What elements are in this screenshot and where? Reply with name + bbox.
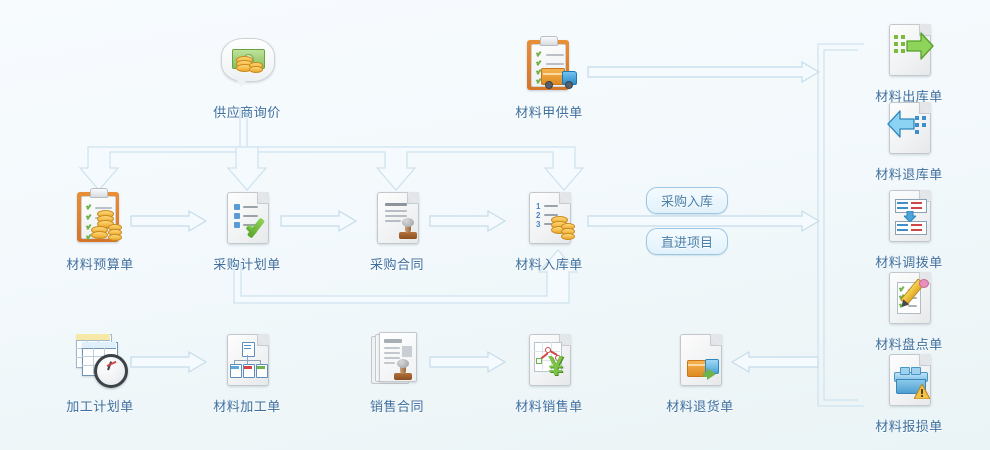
node-stock-out[interactable]: 材料出库单 bbox=[849, 22, 969, 105]
node-purchase-contract[interactable]: 采购合同 bbox=[337, 190, 457, 273]
document-coins-icon: 123 bbox=[521, 190, 577, 250]
document-chart-yen-icon: ¥ bbox=[521, 332, 577, 392]
node-material-inbound[interactable]: 123 材料入库单 bbox=[489, 190, 609, 273]
node-supplier-quote[interactable]: 供应商询价 bbox=[187, 38, 307, 121]
flowchart-canvas: 采购入库 直进项目 供应商询价 bbox=[0, 0, 990, 450]
pill-purchase-inbound[interactable]: 采购入库 bbox=[646, 187, 728, 214]
pill-direct-project[interactable]: 直进项目 bbox=[646, 228, 728, 255]
pill-purchase-inbound-label: 采购入库 bbox=[661, 194, 713, 209]
node-sales-contract-label: 销售合同 bbox=[337, 396, 457, 415]
contract-stack-stamp-icon bbox=[369, 332, 425, 392]
contract-stamp-icon bbox=[369, 190, 425, 250]
node-material-supply-label: 材料甲供单 bbox=[489, 102, 609, 121]
node-stock-damage-label: 材料报损单 bbox=[849, 416, 969, 435]
node-material-inbound-label: 材料入库单 bbox=[489, 254, 609, 273]
node-stock-count-label: 材料盘点单 bbox=[849, 334, 969, 353]
node-material-sales-label: 材料销售单 bbox=[489, 396, 609, 415]
node-purchase-contract-label: 采购合同 bbox=[337, 254, 457, 273]
clipboard-truck-icon bbox=[521, 38, 577, 98]
node-stock-transfer-label: 材料调拨单 bbox=[849, 252, 969, 271]
document-box-warning-icon bbox=[881, 352, 937, 412]
node-material-budget-label: 材料预算单 bbox=[40, 254, 160, 273]
node-material-supply[interactable]: 材料甲供单 bbox=[489, 38, 609, 121]
document-arrow-in-blue-icon bbox=[881, 100, 937, 160]
node-stock-return-label: 材料退库单 bbox=[849, 164, 969, 183]
document-arrow-out-green-icon bbox=[881, 22, 937, 82]
node-purchase-plan[interactable]: 采购计划单 bbox=[187, 190, 307, 273]
document-truck-return-icon bbox=[672, 332, 728, 392]
node-material-process[interactable]: 材料加工单 bbox=[187, 332, 307, 415]
node-material-sales[interactable]: ¥ 材料销售单 bbox=[489, 332, 609, 415]
document-transfer-icon bbox=[881, 188, 937, 248]
node-stock-count[interactable]: 材料盘点单 bbox=[849, 270, 969, 353]
table-clock-icon bbox=[72, 332, 128, 392]
document-checklist-pencil-icon bbox=[881, 270, 937, 330]
node-material-return[interactable]: 材料退货单 bbox=[640, 332, 760, 415]
node-supplier-quote-label: 供应商询价 bbox=[187, 102, 307, 121]
document-tree-icon bbox=[219, 332, 275, 392]
node-material-process-label: 材料加工单 bbox=[187, 396, 307, 415]
node-stock-damage[interactable]: 材料报损单 bbox=[849, 352, 969, 435]
node-stock-return[interactable]: 材料退库单 bbox=[849, 100, 969, 183]
node-process-plan-label: 加工计划单 bbox=[40, 396, 160, 415]
speech-bubble-money-icon bbox=[219, 38, 275, 98]
node-material-return-label: 材料退货单 bbox=[640, 396, 760, 415]
node-stock-transfer[interactable]: 材料调拨单 bbox=[849, 188, 969, 271]
arrow-supply-to-outbound bbox=[588, 62, 820, 82]
clipboard-coins-icon bbox=[72, 190, 128, 250]
node-sales-contract[interactable]: 销售合同 bbox=[337, 332, 457, 415]
node-purchase-plan-label: 采购计划单 bbox=[187, 254, 307, 273]
node-process-plan[interactable]: 加工计划单 bbox=[40, 332, 160, 415]
document-check-icon bbox=[219, 190, 275, 250]
node-material-budget[interactable]: 材料预算单 bbox=[40, 190, 160, 273]
pill-direct-project-label: 直进项目 bbox=[661, 235, 713, 250]
